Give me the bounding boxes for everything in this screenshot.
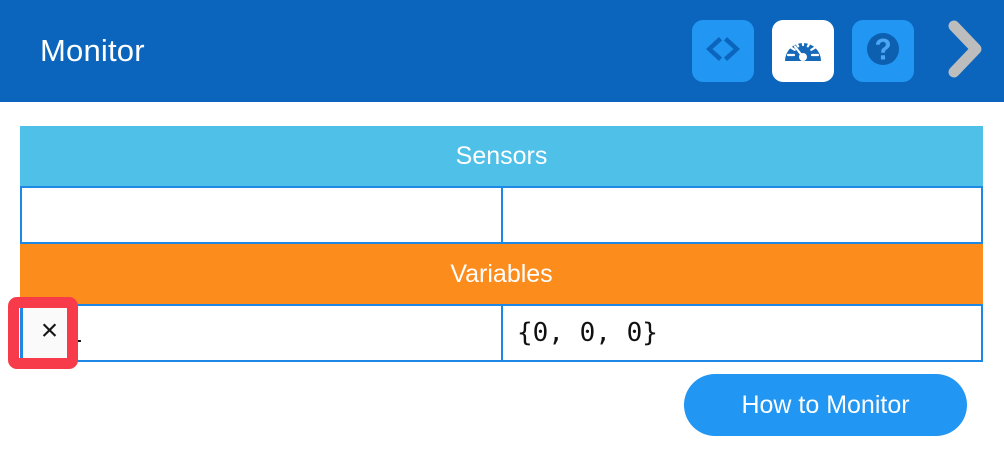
sensors-table-row: [20, 186, 983, 244]
how-to-monitor-button[interactable]: How to Monitor: [684, 374, 967, 436]
sensors-title: Sensors: [456, 142, 548, 171]
code-icon: [705, 36, 741, 67]
sensors-section-header: Sensors: [20, 126, 983, 186]
gauge-icon: [783, 34, 823, 69]
sensor-name-cell: [22, 188, 503, 242]
sensor-value-cell: [503, 188, 981, 242]
help-button[interactable]: [852, 20, 914, 82]
variables-title: Variables: [450, 260, 552, 289]
header-actions: [692, 16, 996, 86]
help-icon: [864, 30, 902, 73]
variable-name-cell: list1: [22, 306, 503, 360]
app-header: Monitor: [0, 0, 1004, 102]
monitor-gauge-button[interactable]: [772, 20, 834, 82]
code-button[interactable]: [692, 20, 754, 82]
monitor-table: Sensors Variables list1 {0, 0, 0}: [20, 126, 983, 362]
variables-section-header: Variables: [20, 244, 983, 304]
next-page-button[interactable]: [932, 16, 996, 86]
variables-table-row: list1 {0, 0, 0}: [20, 304, 983, 362]
variable-value-cell: {0, 0, 0}: [503, 306, 981, 360]
close-icon[interactable]: ×: [20, 304, 76, 358]
chevron-right-icon: [944, 20, 984, 83]
page-title: Monitor: [40, 33, 145, 69]
